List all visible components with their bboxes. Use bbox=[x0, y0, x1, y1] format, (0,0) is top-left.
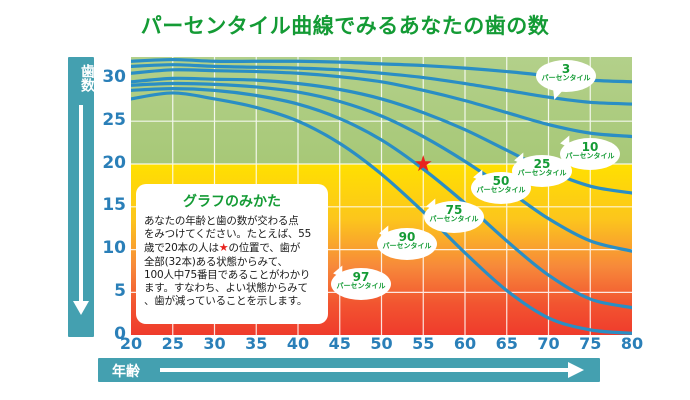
how-to-line: 歳で20本の人は★の位置で、歯が bbox=[144, 241, 320, 255]
x-tick-40: 40 bbox=[281, 334, 315, 353]
how-to-line: をみつけてください。たとえば、55 bbox=[144, 228, 320, 241]
percentile-bubble-97-word: パーセンタイル bbox=[335, 283, 387, 290]
y-tick-20: 20 bbox=[98, 153, 126, 173]
page-title: パーセンタイル曲線でみるあなたの歯の数 bbox=[0, 10, 690, 40]
x-tick-20: 20 bbox=[114, 334, 148, 353]
y-tick-15: 15 bbox=[98, 195, 126, 215]
x-tick-55: 55 bbox=[406, 334, 440, 353]
x-tick-25: 25 bbox=[156, 334, 190, 353]
x-axis-label: 年齢 bbox=[112, 361, 140, 381]
percentile-bubble-3: 3 パーセンタイル bbox=[536, 60, 596, 92]
how-to-line: 、歯が減っていることを示します。 bbox=[144, 295, 320, 308]
x-tick-30: 30 bbox=[198, 334, 232, 353]
x-tick-60: 60 bbox=[448, 334, 482, 353]
how-to-read-body: あなたの年齢と歯の数が交わる点 をみつけてください。たとえば、55 歳で20本の… bbox=[144, 215, 320, 308]
percentile-bubble-10-word: パーセンタイル bbox=[564, 153, 616, 160]
y-tick-30: 30 bbox=[98, 67, 126, 87]
x-tick-50: 50 bbox=[365, 334, 399, 353]
x-tick-45: 45 bbox=[323, 334, 357, 353]
percentile-bubble-75-word: パーセンタイル bbox=[428, 216, 480, 223]
y-axis-label: 歯数 bbox=[68, 60, 94, 96]
y-tick-5: 5 bbox=[98, 281, 126, 301]
percentile-bubble-3-word: パーセンタイル bbox=[540, 75, 592, 82]
how-to-line: あなたの年齢と歯の数が交わる点 bbox=[144, 215, 320, 228]
y-axis-banner: 歯数 bbox=[68, 57, 94, 337]
y-tick-25: 25 bbox=[98, 110, 126, 130]
how-to-line: 全部(32本)ある状態からみて、 bbox=[144, 256, 320, 269]
how-to-read-title: グラフのみかた bbox=[144, 191, 320, 211]
inline-star-icon: ★ bbox=[219, 241, 229, 254]
y-axis-arrow-head-icon bbox=[73, 301, 89, 315]
how-to-line: 100人中75番目であることがわかり bbox=[144, 269, 320, 282]
x-tick-65: 65 bbox=[490, 334, 524, 353]
how-to-line: ます。すなわち、よい状態からみて bbox=[144, 282, 320, 295]
how-to-read-callout: グラフのみかた あなたの年齢と歯の数が交わる点 をみつけてください。たとえば、5… bbox=[136, 184, 328, 324]
x-tick-35: 35 bbox=[239, 334, 273, 353]
x-tick-70: 70 bbox=[532, 334, 566, 353]
percentile-bubble-90-word: パーセンタイル bbox=[381, 243, 433, 250]
x-axis-banner: 年齢 bbox=[98, 358, 600, 382]
star-marker-icon: ★ bbox=[413, 152, 433, 177]
x-tick-75: 75 bbox=[573, 334, 607, 353]
y-axis-arrow-shaft bbox=[79, 105, 83, 303]
x-tick-80: 80 bbox=[615, 334, 649, 353]
x-axis-arrow-shaft bbox=[160, 368, 572, 372]
y-tick-10: 10 bbox=[98, 238, 126, 258]
x-axis-arrow-head-icon bbox=[568, 362, 584, 378]
percentile-bubble-50-word: パーセンタイル bbox=[475, 187, 527, 194]
